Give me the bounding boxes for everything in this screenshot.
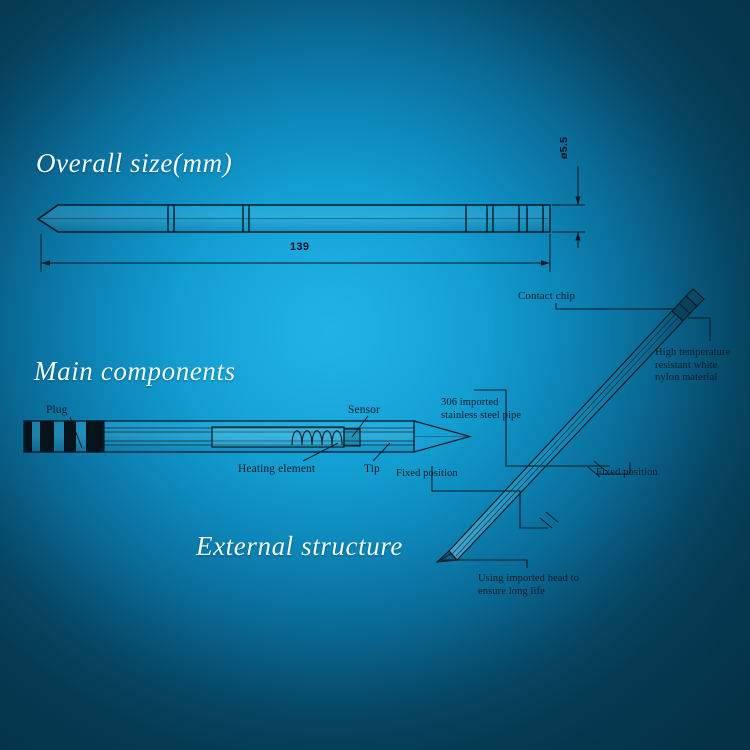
callout-fixed-position-right: Fixed position xyxy=(596,467,658,480)
callout-fixed-position-left: Fixed position xyxy=(396,468,458,481)
callout-contact-chip: Contact chip xyxy=(518,290,575,303)
callout-nylon-material: High temperature resistant white nylon m… xyxy=(655,347,730,385)
dimension-diameter-label: ø5.5 xyxy=(558,137,570,159)
callout-steel-pipe: 306 imported stainless steel pipe xyxy=(441,397,521,422)
pipe-body xyxy=(449,311,683,560)
label-tip: Tip xyxy=(364,463,380,476)
main-components-drawing xyxy=(24,416,470,461)
label-plug: Plug xyxy=(46,404,68,417)
sensor-block xyxy=(344,429,360,446)
leader-imported-head xyxy=(440,560,527,568)
section-title-overall-size: Overall size(mm) xyxy=(36,148,232,179)
length-dimension xyxy=(41,234,550,272)
dimension-length-label: 139 xyxy=(290,241,309,253)
section-title-external-structure: External structure xyxy=(196,531,403,562)
section-title-main-components: Main components xyxy=(34,356,236,387)
external-structure-drawing xyxy=(432,289,710,568)
overall-size-drawing xyxy=(38,166,585,272)
leader-contact-chip xyxy=(556,303,676,309)
leader-nylon xyxy=(688,318,710,341)
callout-imported-head: Using imported head to ensure long life xyxy=(478,573,579,598)
diagram-page: Overall size(mm) Main components Externa… xyxy=(0,0,750,750)
label-heating-element: Heating element xyxy=(238,463,315,476)
heating-chamber xyxy=(212,427,344,447)
diameter-dimension xyxy=(552,166,585,248)
label-sensor: Sensor xyxy=(348,404,380,417)
